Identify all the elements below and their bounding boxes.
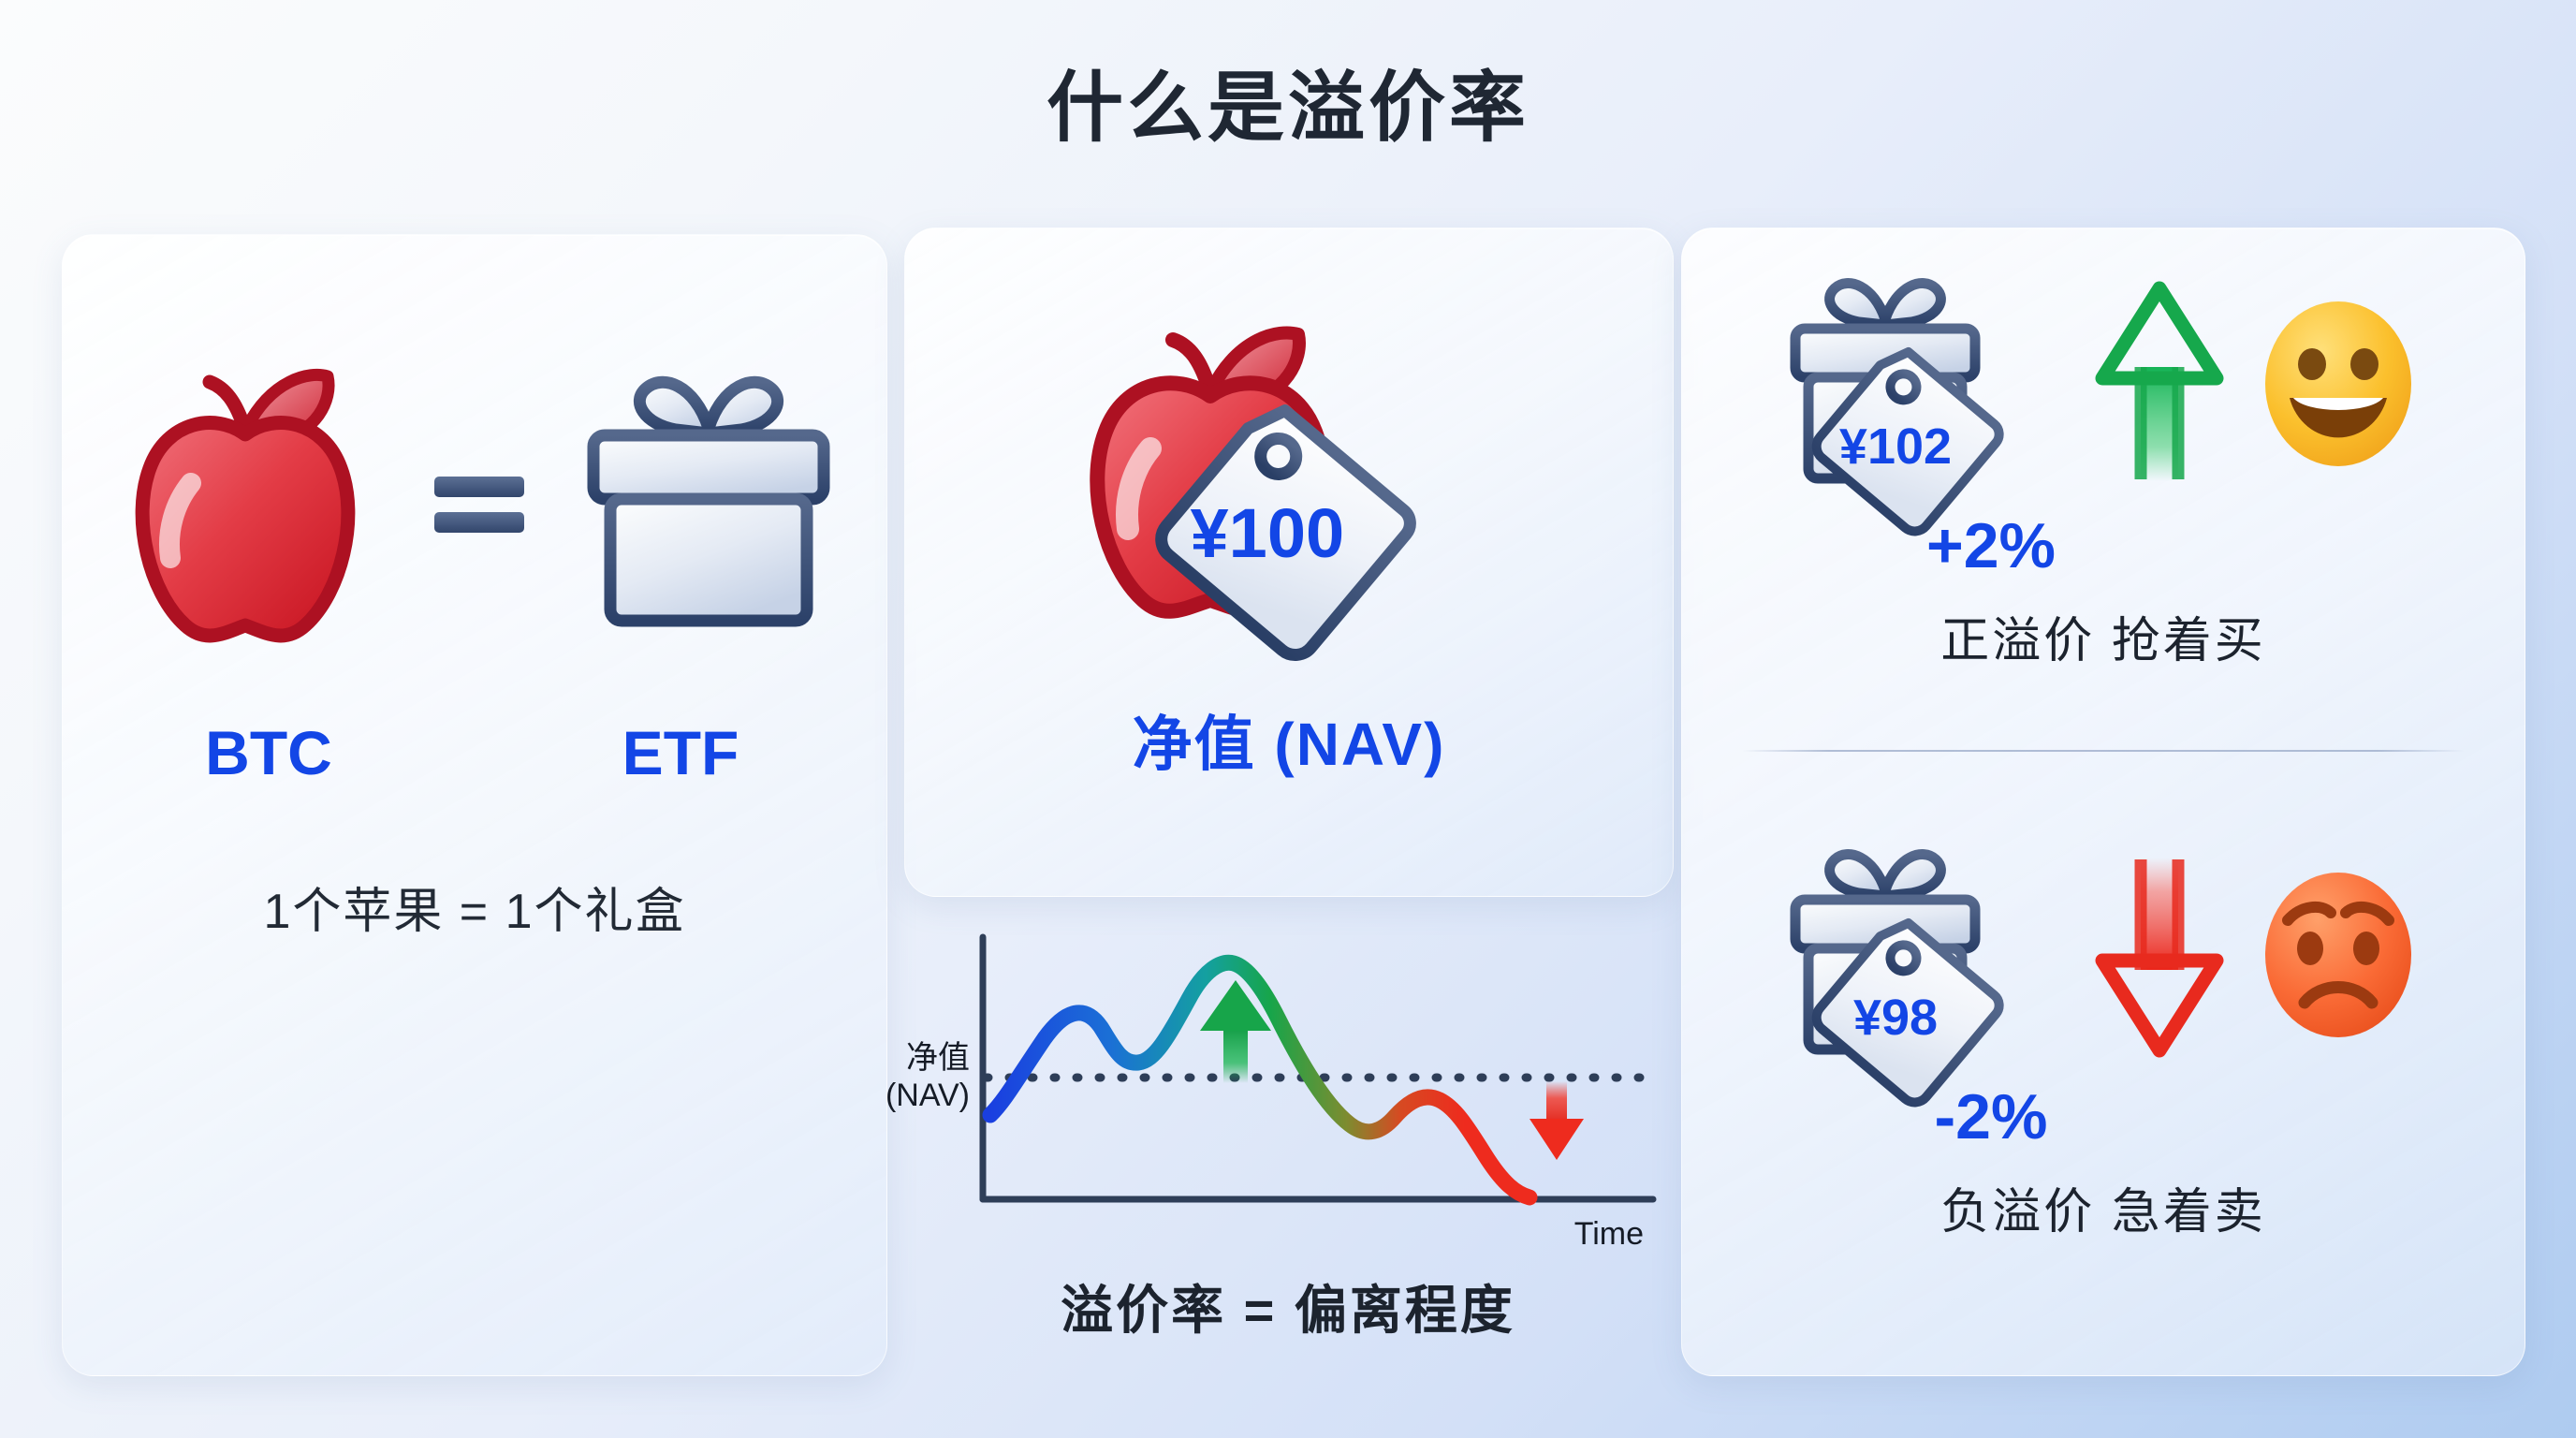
positive-icon-row: ¥102 [1682, 262, 2525, 506]
gift-box-icon: ¥102 [1784, 267, 2065, 501]
negative-icon-row: ¥98 [1682, 833, 2525, 1077]
arrow-up-icon [2089, 281, 2230, 487]
positive-tag-value: ¥102 [1839, 418, 1952, 475]
apple-icon [105, 345, 386, 653]
label-btc: BTC [63, 717, 475, 788]
page-title: 什么是溢价率 [0, 45, 2576, 156]
positive-percent: +2% [1570, 509, 2412, 582]
grinning-face-icon [2254, 295, 2422, 473]
equation-row [63, 302, 886, 696]
card-nav: ¥100 净值 (NAV) [904, 227, 1674, 897]
negative-premium-section: ¥98 [1682, 809, 2525, 1371]
gift-box-icon: ¥98 [1784, 838, 2065, 1072]
worried-face-icon [2254, 866, 2422, 1044]
chart-caption: 溢价率 = 偏离程度 [904, 1269, 1672, 1344]
premium-rate-chart: 净值 (NAV) Time 溢价率 = 偏离程度 [904, 922, 1672, 1372]
chart-canvas: 净值 (NAV) Time [904, 922, 1672, 1259]
label-etf: ETF [475, 717, 886, 788]
negative-percent: -2% [1570, 1080, 2412, 1153]
card-btc-equals-etf: BTC ETF 1个苹果 = 1个礼盒 [62, 234, 887, 1376]
left-card-caption: 1个苹果 = 1个礼盒 [63, 872, 886, 942]
nav-label: 净值 (NAV) [905, 697, 1673, 783]
card-premium-discount: ¥102 [1681, 227, 2525, 1376]
arrow-down-icon [2089, 852, 2230, 1058]
gift-box-icon [573, 359, 844, 639]
equals-icon [434, 454, 524, 544]
chart-xlabel: Time [1574, 1216, 1644, 1252]
nav-tag-value: ¥100 [1191, 494, 1345, 572]
negative-caption: 负溢价 急着卖 [1682, 1172, 2525, 1242]
chart-ylabel-line1: 净值 [906, 1040, 970, 1076]
apple-with-price-tag: ¥100 [905, 266, 1673, 706]
negative-tag-value: ¥98 [1853, 990, 1938, 1046]
ticker-labels: BTC ETF [63, 717, 886, 788]
positive-caption: 正溢价 抢着买 [1682, 601, 2525, 671]
chart-ylabel-line2: (NAV) [885, 1078, 970, 1113]
infographic-stage: 什么是溢价率 [0, 0, 2576, 1438]
positive-premium-section: ¥102 [1682, 238, 2525, 800]
